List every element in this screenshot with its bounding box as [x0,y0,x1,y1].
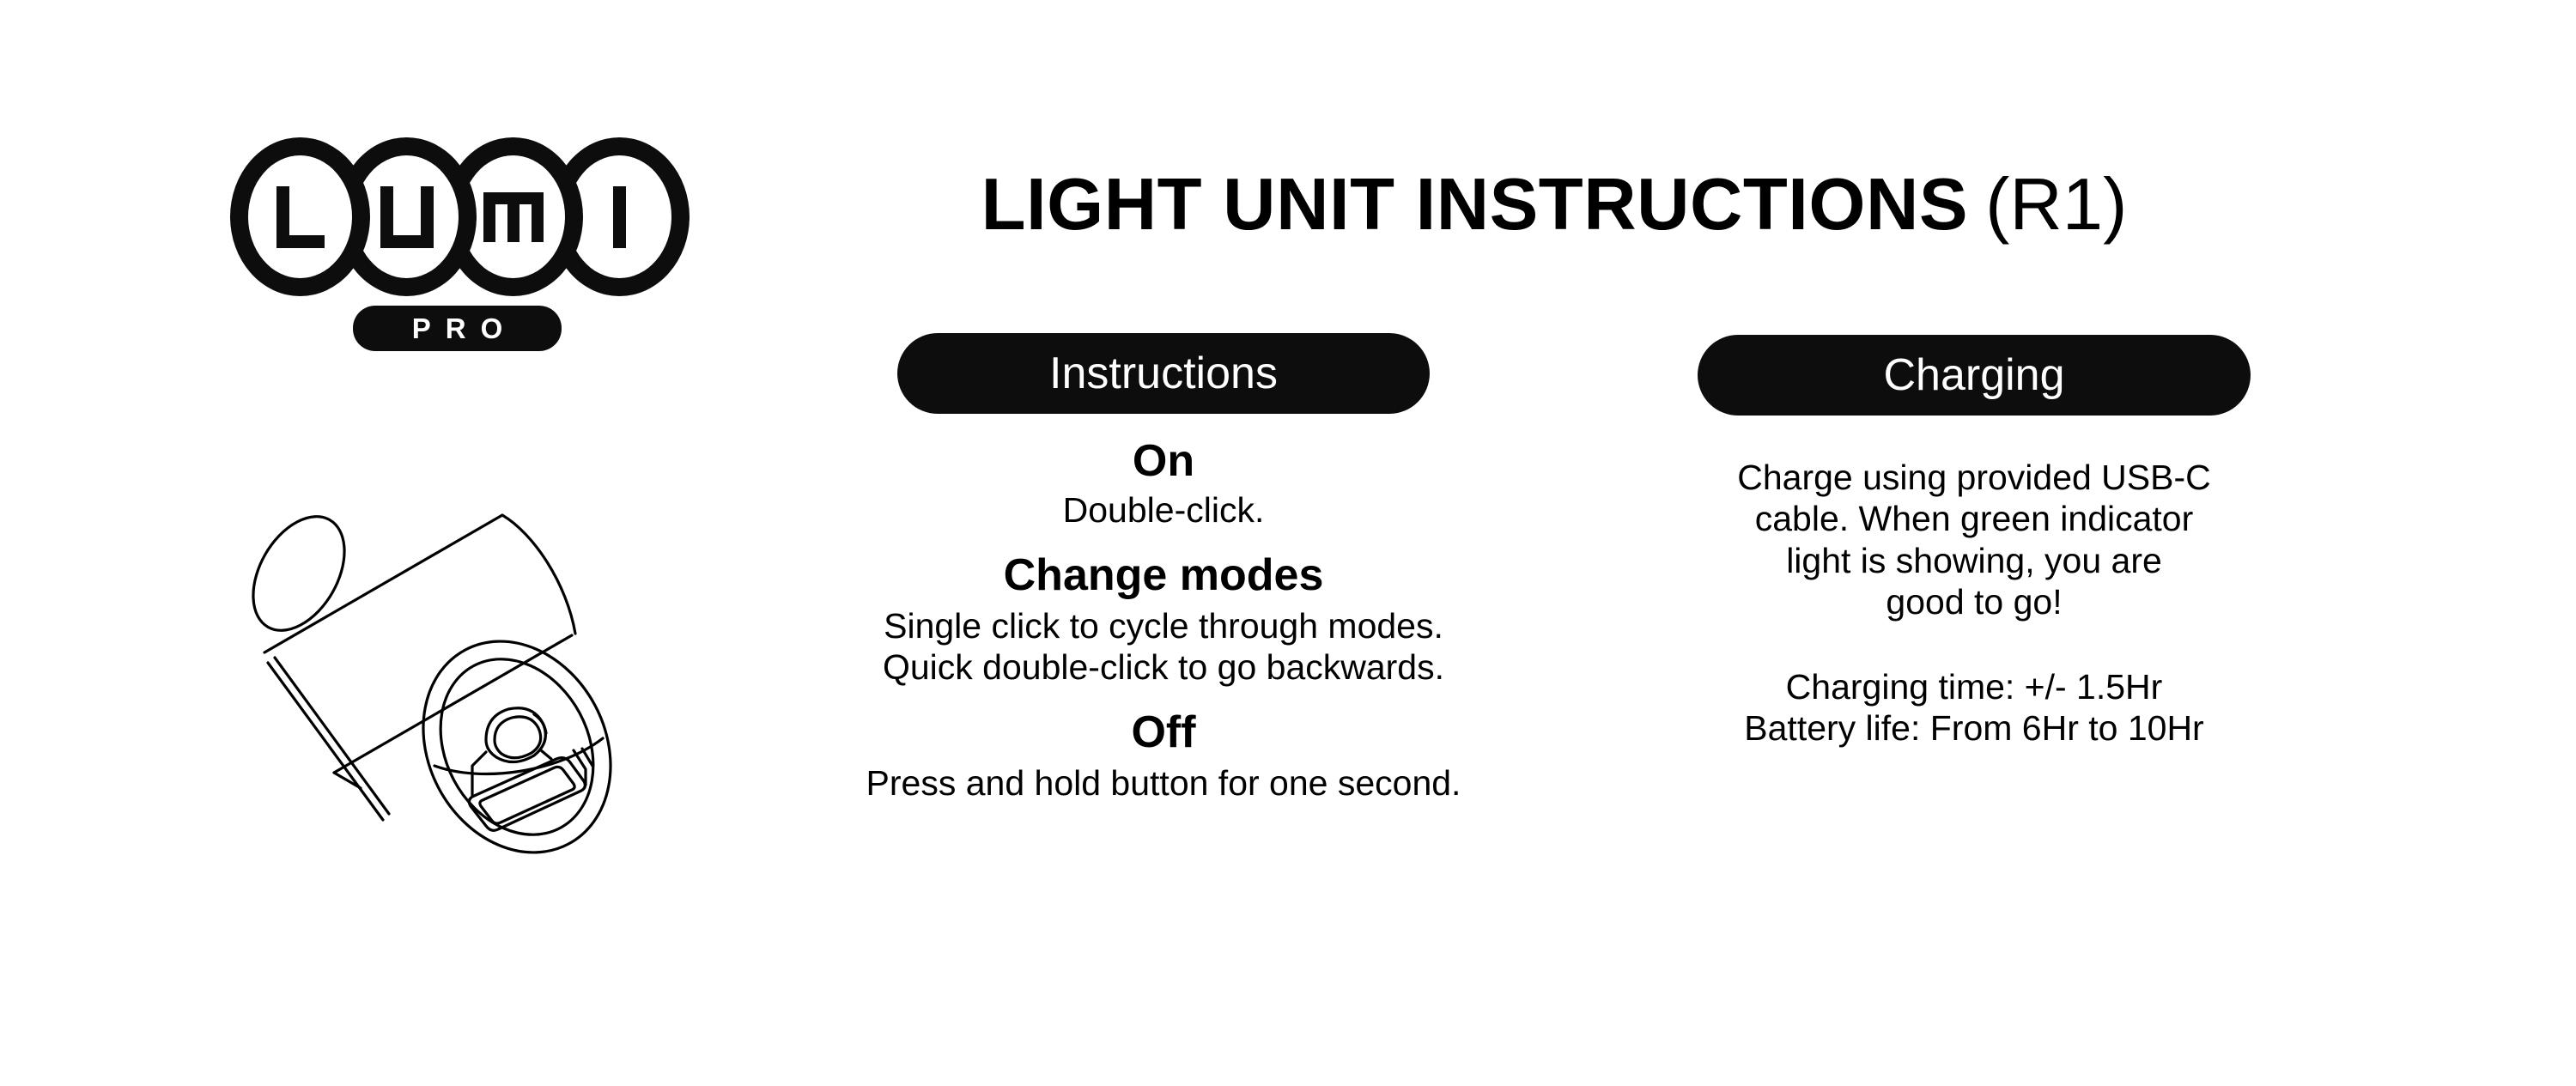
charging-paragraph-line-2: cable. When green indicator [1613,498,2336,539]
charging-column: Charging Charge using provided USB-C cab… [1613,335,2336,749]
instruction-section-off: Off Press and hold button for one second… [764,707,1563,804]
charging-paragraph-line-3: light is showing, you are [1613,540,2336,581]
instruction-heading-off: Off [764,707,1563,757]
logo-letter-i-icon [613,186,626,248]
instruction-body-on: Double-click. [764,489,1563,531]
instruction-section-on: On Double-click. [764,436,1563,531]
charging-paragraph: Charge using provided USB-C cable. When … [1613,457,2336,623]
instructions-pill: Instructions [897,333,1430,414]
page-title-main: LIGHT UNIT INSTRUCTIONS [981,168,1969,241]
logo-letter-l-icon [276,186,325,248]
logo-ring-l [230,137,370,296]
instruction-heading-change-modes: Change modes [764,550,1563,600]
instruction-line-cycle: Single click to cycle through modes. [764,605,1563,646]
charging-pill-label: Charging [1883,353,2064,397]
page-title-revision: (R1) [1985,168,2127,241]
logo-letter-m-icon [483,192,544,242]
instructions-pill-label: Instructions [1049,351,1278,396]
logo-rings [230,137,720,296]
charging-specs: Charging time: +/- 1.5Hr Battery life: F… [1613,666,2336,749]
battery-life-spec: Battery life: From 6Hr to 10Hr [1613,707,2336,749]
charging-paragraph-line-1: Charge using provided USB-C [1613,457,2336,498]
pro-badge: PRO [353,306,562,351]
instruction-heading-on: On [764,436,1563,486]
pro-badge-label: PRO [398,314,518,343]
logo-letter-u-icon [380,186,434,248]
page-title: LIGHT UNIT INSTRUCTIONS (R1) [897,168,2211,263]
instruction-section-change-modes: Change modes Single click to cycle throu… [764,550,1563,689]
brand-logo: PRO [230,137,720,361]
instruction-line-backwards: Quick double-click to go backwards. [764,646,1563,688]
charging-pill: Charging [1698,335,2251,416]
instructions-column: Instructions On Double-click. Change mod… [764,333,1563,804]
light-unit-drawing-icon [215,464,713,919]
instruction-sheet: PRO [0,0,2576,1086]
light-unit-illustration [215,464,713,919]
charging-time-spec: Charging time: +/- 1.5Hr [1613,666,2336,707]
charging-paragraph-line-4: good to go! [1613,581,2336,622]
instruction-body-change-modes: Single click to cycle through modes. Qui… [764,605,1563,689]
instruction-body-off: Press and hold button for one second. [764,762,1563,804]
